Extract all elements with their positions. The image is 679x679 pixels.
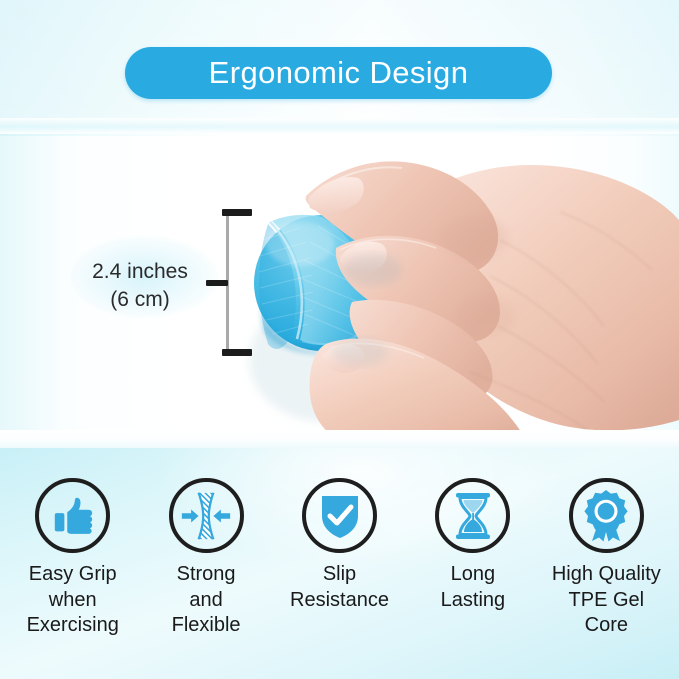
feature-label: Easy Grip when Exercising — [27, 562, 119, 639]
feature-item-slip-resistance: Slip Resistance — [273, 478, 406, 613]
feature-item-tpe-gel-core: High Quality TPE Gel Core — [540, 478, 673, 639]
human-hand — [306, 161, 679, 450]
shield-check-icon — [318, 492, 362, 540]
feature-icon-circle — [302, 478, 377, 553]
feature-item-strong-flexible: Strong and Flexible — [139, 478, 272, 639]
bracket-cap-top — [222, 209, 252, 216]
feature-icon-circle — [169, 478, 244, 553]
feature-label: Strong and Flexible — [172, 562, 241, 639]
page-title: Ergonomic Design — [209, 57, 469, 88]
bracket-cap-bottom — [222, 349, 252, 356]
feature-list: Easy Grip when Exercising — [0, 478, 679, 673]
product-infographic: Ergonomic Design — [0, 0, 679, 679]
feature-label: Slip Resistance — [290, 562, 389, 613]
feature-icon-circle — [35, 478, 110, 553]
compression-arrows-icon — [180, 490, 232, 542]
feature-item-long-lasting: Long Lasting — [406, 478, 539, 613]
hourglass-icon — [451, 491, 495, 541]
thumbs-up-icon — [50, 493, 96, 539]
measurement-inches: 2.4 inches — [92, 260, 188, 283]
feature-icon-circle — [569, 478, 644, 553]
measurement-centimeters: (6 cm) — [60, 286, 220, 314]
feature-label: Long Lasting — [441, 562, 506, 613]
feature-icon-circle — [435, 478, 510, 553]
award-ribbon-icon — [583, 490, 629, 542]
feature-label: High Quality TPE Gel Core — [552, 562, 661, 639]
measurement-label: 2.4 inches (6 cm) — [60, 258, 220, 313]
feature-item-easy-grip: Easy Grip when Exercising — [6, 478, 139, 639]
title-pill: Ergonomic Design — [125, 47, 552, 99]
